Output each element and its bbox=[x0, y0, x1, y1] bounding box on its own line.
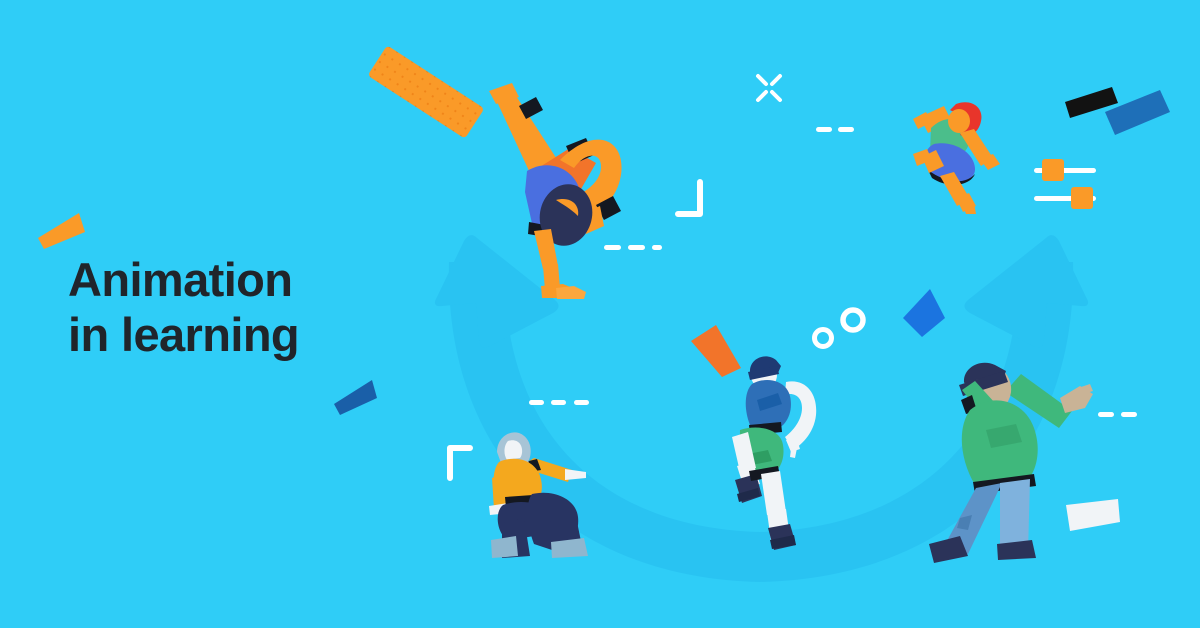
slider-handle-lower[interactable] bbox=[1071, 187, 1093, 209]
dash-pair-upper-centre bbox=[604, 245, 662, 250]
slider-handle-upper[interactable] bbox=[1042, 159, 1064, 181]
dash-pair-mid-left bbox=[529, 400, 589, 405]
banner-canvas: Animation in learning bbox=[0, 0, 1200, 628]
page-title: Animation in learning bbox=[68, 252, 488, 363]
